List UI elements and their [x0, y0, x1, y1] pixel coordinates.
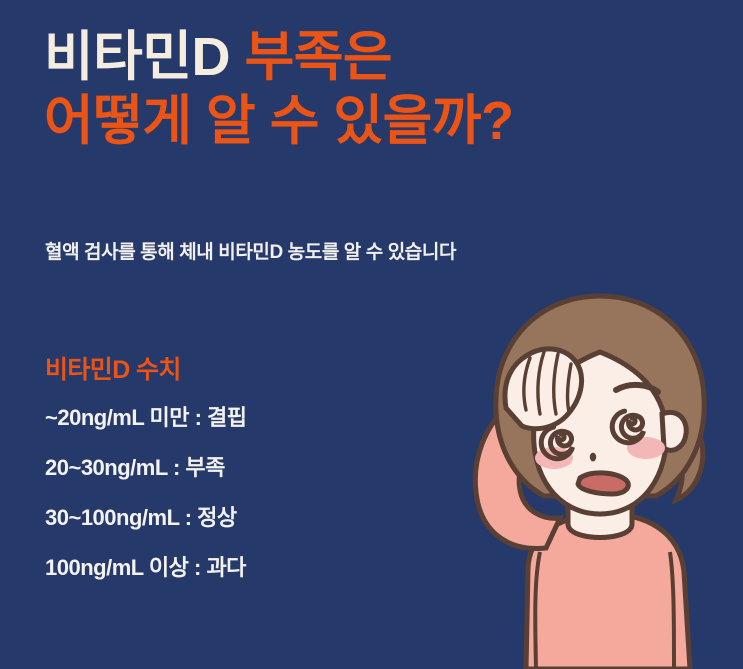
subtitle-text: 혈액 검사를 통해 체내 비타민D 농도를 알 수 있습니다 [45, 237, 456, 264]
headline-line-1: 비타민D 부족은 [44, 28, 664, 86]
headline-orange-text: 부족은 [245, 27, 393, 87]
infographic-card: 비타민D 부족은 어떻게 알 수 있을까? 혈액 검사를 통해 체내 비타민D … [0, 0, 743, 669]
open-mouth [578, 473, 628, 494]
ear-right [662, 412, 686, 450]
list-item: 30~100ng/mL : 정상 [45, 500, 375, 532]
dizzy-woman-illustration [440, 280, 743, 669]
headline-line-2: 어떻게 알 수 있을까? [44, 92, 664, 150]
headline-cream-text: 비타민D [44, 27, 230, 87]
nose [590, 453, 596, 462]
page-title: 비타민D 부족은 어떻게 알 수 있을까? [44, 28, 664, 151]
list-item: ~20ng/mL 미만 : 결핍 [45, 400, 375, 432]
levels-heading: 비타민D 수치 [45, 350, 375, 386]
list-item: 100ng/mL 이상 : 과다 [45, 550, 375, 582]
list-item: 20~30ng/mL : 부족 [45, 450, 375, 482]
vitamin-d-levels-block: 비타민D 수치 ~20ng/mL 미만 : 결핍 20~30ng/mL : 부족… [45, 350, 375, 600]
